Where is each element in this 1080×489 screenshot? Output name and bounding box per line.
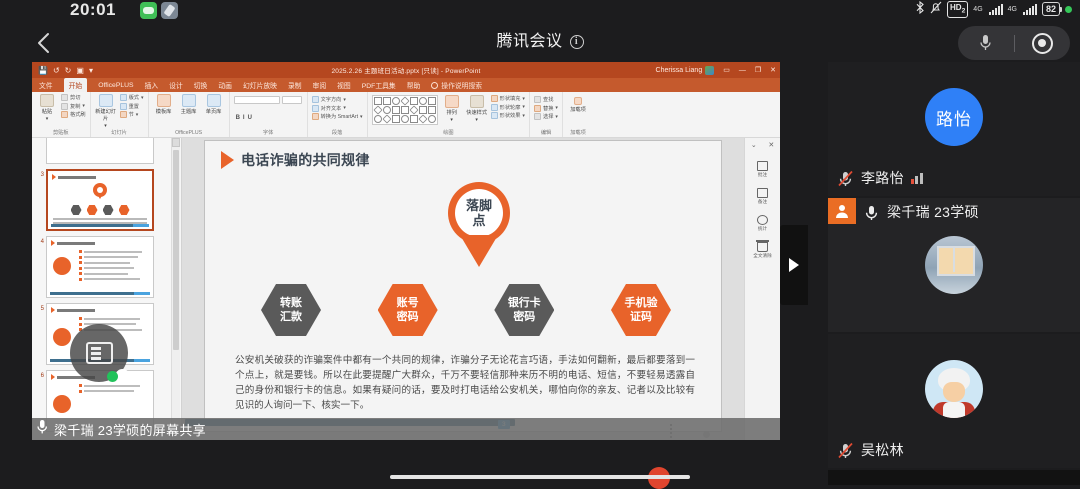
ribbon-tabs[interactable]: 文件 开始 OfficePLUS 插入 设计 切换 动画 幻灯片放映 录制 审阅… xyxy=(32,78,780,92)
tell-me-label: 操作说明搜索 xyxy=(441,80,482,90)
share-label-text: 梁千瑞 23学硕的屏幕共享 xyxy=(54,420,206,439)
font-family-box[interactable] xyxy=(234,96,280,104)
theme-library-icon xyxy=(182,94,196,107)
participant-name: 吴松林 xyxy=(861,440,904,460)
copy-icon xyxy=(61,103,68,110)
hexagon-line2: 汇款 xyxy=(280,310,302,324)
microphone-icon xyxy=(36,418,48,441)
hd-icon: HD2 xyxy=(947,1,968,18)
tab-home[interactable]: 开始 xyxy=(64,78,88,92)
align-text-icon xyxy=(312,105,319,112)
thumbnail-item[interactable]: 4 xyxy=(34,236,181,298)
ribbon-group-font: B I U 字体 xyxy=(230,92,308,137)
tab-slideshow[interactable]: 幻灯片放映 xyxy=(243,80,277,90)
screen-share-badge xyxy=(828,198,856,224)
side-panel-item-stats[interactable]: 统计 xyxy=(745,215,780,232)
layout-icon xyxy=(120,94,127,101)
microphone-muted-icon xyxy=(838,170,854,187)
ppt-side-panel[interactable]: ⌄ ✕ 批注 备注 统计 全文清除 xyxy=(744,138,780,440)
notes-icon xyxy=(757,188,768,198)
tab-pdf-tools[interactable]: PDF工具集 xyxy=(362,80,396,90)
wechat-icon xyxy=(140,2,157,19)
thumbnail-number: 3 xyxy=(34,169,44,231)
status-bar: 20:01 HD2 4G 4G 82 xyxy=(0,0,1080,22)
hexagon-line1: 转账 xyxy=(280,296,302,310)
addin-icon xyxy=(574,97,582,105)
tab-record[interactable]: 录制 xyxy=(288,80,302,90)
hexagon-line1: 账号 xyxy=(397,296,419,310)
new-slide-button[interactable]: 新建幻灯片 ▾ xyxy=(95,94,117,129)
ribbon-group-addins: 加载项 加载项 xyxy=(563,92,593,137)
section-icon xyxy=(120,111,127,118)
group-label-addins: 加载项 xyxy=(567,129,589,137)
scroll-up-button[interactable] xyxy=(172,138,180,147)
app-title-text: 腾讯会议 xyxy=(496,22,562,62)
avatar xyxy=(925,360,983,418)
avatar: 路怡 xyxy=(925,88,983,146)
hexagon-line1: 银行卡 xyxy=(508,296,541,310)
group-label-officeplus: OfficePLUS xyxy=(153,130,225,137)
ribbon-display-options-icon[interactable]: ▭ xyxy=(723,66,730,74)
record-icon xyxy=(1032,33,1053,54)
tab-design[interactable]: 设计 xyxy=(169,80,183,90)
shape-fill-button[interactable]: 形状填充▾ xyxy=(491,95,525,102)
signal-2-icon xyxy=(1023,4,1037,15)
paste-icon xyxy=(40,94,54,107)
bluetooth-icon xyxy=(915,1,925,17)
format-painter-icon xyxy=(61,111,68,118)
scrollbar-thumb[interactable] xyxy=(173,150,179,350)
tab-file[interactable]: 文件 xyxy=(39,80,53,90)
signal-1-icon xyxy=(989,4,1003,15)
participant-tile[interactable]: 路怡 李路怡 xyxy=(828,62,1080,198)
shape-effects-icon xyxy=(491,112,498,119)
hexagon-line2: 密码 xyxy=(513,310,535,324)
tab-view[interactable]: 视图 xyxy=(337,80,351,90)
group-label-drawing: 绘图 xyxy=(372,129,525,137)
ribbon-group-clipboard: 粘贴 ▾ 剪切 复制▾ 格式刷 剪贴板 xyxy=(32,92,91,137)
ribbon-group-drawing: 排列▾ 快速样式▾ 形状填充▾ 形状轮廓▾ 形状效果▾ 绘图 xyxy=(368,92,530,137)
play-arrow-icon xyxy=(789,258,799,272)
replace-icon xyxy=(534,105,541,112)
tab-help[interactable]: 帮助 xyxy=(407,80,421,90)
info-icon[interactable]: i xyxy=(570,35,584,49)
trash-icon xyxy=(757,242,768,252)
ribbon-group-editing: 查找 替换▾ 选择▾ 编辑 xyxy=(530,92,563,137)
slide-thumbnail-panel[interactable]: 2 如何识别防范电信诈骗？ 3 4 xyxy=(32,138,182,440)
shared-screen-area[interactable]: 💾 ↺ ↻ ▣ ▾ 2025.2.26 主题班日活动.pptx [只读] - P… xyxy=(32,62,780,440)
side-panel-item-comment[interactable]: 批注 xyxy=(745,161,780,178)
hexagon-line1: 手机验 xyxy=(624,296,657,310)
single-page-library-button[interactable]: 单页库 xyxy=(203,94,225,115)
paste-button[interactable]: 粘贴 ▾ xyxy=(36,94,58,122)
battery-indicator: 82 xyxy=(1042,2,1060,16)
arrange-button[interactable]: 排列▾ xyxy=(441,95,463,123)
screen-share-floating-control[interactable] xyxy=(70,324,128,382)
template-library-icon xyxy=(157,94,171,107)
signal-1-label: 4G xyxy=(973,6,982,13)
italic-button[interactable]: I xyxy=(243,115,245,121)
select-icon xyxy=(534,113,541,120)
tab-officeplus[interactable]: OfficePLUS xyxy=(98,82,133,89)
ribbon-group-slides: 新建幻灯片 ▾ 版式▾ 重置 节▾ 幻灯片 xyxy=(91,92,149,137)
recording-dot-icon xyxy=(1065,6,1072,13)
thumbnail-preview[interactable] xyxy=(46,236,154,298)
slide-title-text: 电话诈骗的共同规律 xyxy=(241,150,370,170)
shape-effects-button[interactable]: 形状效果▾ xyxy=(491,112,525,119)
tab-animations[interactable]: 动画 xyxy=(218,80,232,90)
new-slide-icon xyxy=(99,94,113,107)
quick-styles-icon xyxy=(470,95,484,108)
align-text-button[interactable]: 对齐文本▾ xyxy=(312,105,363,112)
participant-tile[interactable]: 梁千瑞 23学硕 xyxy=(828,198,1080,334)
shape-gallery[interactable] xyxy=(372,95,438,125)
font-size-box[interactable] xyxy=(282,96,302,104)
status-indicators: HD2 4G 4G 82 xyxy=(915,1,1072,18)
tab-review[interactable]: 审阅 xyxy=(313,80,327,90)
search-icon xyxy=(534,96,541,103)
layout-button[interactable]: 版式▾ xyxy=(120,94,144,101)
ribbon-group-paragraph: 文字方向▾ 对齐文本▾ 转换为 SmartArt▾ 段落 xyxy=(308,92,368,137)
arrow-bullet-icon xyxy=(221,151,234,169)
tab-transitions[interactable]: 切换 xyxy=(194,80,208,90)
participant-list: 路怡 李路怡 梁千瑞 23学硕 吴松林 xyxy=(828,62,1080,485)
cut-icon xyxy=(61,94,68,101)
powerpoint-window: 💾 ↺ ↻ ▣ ▾ 2025.2.26 主题班日活动.pptx [只读] - P… xyxy=(32,62,780,440)
status-time: 20:01 xyxy=(70,0,116,20)
select-button[interactable]: 选择▾ xyxy=(534,113,558,120)
thumbnail-item[interactable]: 2 如何识别防范电信诈骗？ xyxy=(34,138,181,164)
floating-control-pill[interactable] xyxy=(958,26,1070,60)
mic-button[interactable] xyxy=(958,33,1014,53)
hexagon-item[interactable]: 银行卡 密码 xyxy=(494,284,554,336)
shape-outline-icon xyxy=(491,104,498,111)
screen-share-icon xyxy=(86,342,113,364)
ppt-window-controls[interactable]: Cherissa Liang ▭ — ❐ ✕ xyxy=(656,66,776,75)
copy-dropdown-icon[interactable]: ▾ xyxy=(82,103,85,109)
ringer-off-icon xyxy=(930,1,942,17)
tool-icon xyxy=(161,2,178,19)
avatar-initials: 路怡 xyxy=(936,105,972,130)
ribbon-group-officeplus: 模板库 主题库 单页库 OfficePLUS xyxy=(149,92,230,137)
group-label-paragraph: 段落 xyxy=(312,129,363,137)
thumbnail-preview-selected[interactable] xyxy=(46,169,154,231)
format-painter-button[interactable]: 格式刷 xyxy=(61,111,86,118)
shape-fill-icon xyxy=(491,95,498,102)
hexagon-line2: 密码 xyxy=(397,310,419,324)
smartart-icon xyxy=(312,113,319,120)
lightbulb-icon xyxy=(431,82,438,89)
thumbnail-item[interactable]: 3 xyxy=(34,169,181,231)
thumbnail-number: 2 xyxy=(34,138,44,164)
tab-insert[interactable]: 插入 xyxy=(145,80,159,90)
microphone-icon xyxy=(864,204,880,221)
paste-dropdown-icon[interactable]: ▾ xyxy=(46,116,49,122)
thumbnail-scrollbar[interactable] xyxy=(171,138,180,440)
text-direction-button[interactable]: 文字方向▾ xyxy=(312,96,363,103)
thumbnail-number: 5 xyxy=(34,303,44,365)
ppt-user-name: Cherissa Liang xyxy=(656,67,703,74)
ppt-user[interactable]: Cherissa Liang xyxy=(656,66,715,75)
close-button[interactable]: ✕ xyxy=(770,66,776,74)
single-page-library-icon xyxy=(207,94,221,107)
minimize-button[interactable]: — xyxy=(739,67,746,74)
avatar xyxy=(925,236,983,294)
bold-button[interactable]: B xyxy=(236,115,240,121)
thumbnail-number: 4 xyxy=(34,236,44,298)
participant-name: 李路怡 xyxy=(861,168,904,188)
share-label-bar: 梁千瑞 23学硕的屏幕共享 xyxy=(32,418,780,440)
avatar xyxy=(705,66,714,75)
find-button[interactable]: 查找 xyxy=(534,96,558,103)
theme-library-button[interactable]: 主题库 xyxy=(178,94,200,115)
tell-me-search[interactable]: 操作说明搜索 xyxy=(431,80,482,90)
smartart-button[interactable]: 转换为 SmartArt▾ xyxy=(312,113,363,120)
reset-icon xyxy=(120,103,127,110)
app-header: 腾讯会议 i xyxy=(0,22,1080,62)
chevron-down-icon[interactable]: ⌄ xyxy=(751,141,757,149)
group-label-font: 字体 xyxy=(234,129,303,137)
replace-button[interactable]: 替换▾ xyxy=(534,105,558,112)
group-label-clipboard: 剪贴板 xyxy=(36,129,86,137)
pin-text-line2: 点 xyxy=(472,213,485,228)
hexagon-item[interactable]: 账号 密码 xyxy=(378,284,438,336)
close-icon[interactable]: ✕ xyxy=(768,141,774,149)
signal-2-label: 4G xyxy=(1008,6,1017,13)
hexagon-item[interactable]: 手机验 证码 xyxy=(611,284,671,336)
maximize-button[interactable]: ❐ xyxy=(755,66,761,74)
pin-text-line1: 落脚 xyxy=(466,198,492,213)
comment-icon xyxy=(757,161,768,171)
status-app-icons xyxy=(140,2,178,19)
page-title: 腾讯会议 i xyxy=(0,22,1080,62)
pin-tail-shape xyxy=(460,235,498,267)
expand-panel-button[interactable] xyxy=(780,225,808,305)
slide-title[interactable]: 电话诈骗的共同规律 xyxy=(205,141,721,170)
record-button[interactable] xyxy=(1015,33,1071,54)
section-button[interactable]: 节▾ xyxy=(120,111,144,118)
thumbnail-preview[interactable]: 如何识别防范电信诈骗？ xyxy=(46,138,154,164)
hexagon-line2: 证码 xyxy=(630,310,652,324)
quick-styles-button[interactable]: 快速样式▾ xyxy=(466,95,488,123)
addin-button[interactable]: 加载项 xyxy=(567,97,589,113)
group-label-editing: 编辑 xyxy=(534,129,558,137)
ppt-body: 2 如何识别防范电信诈骗？ 3 4 xyxy=(32,138,780,440)
underline-button[interactable]: U xyxy=(248,115,252,121)
side-panel-item-clear[interactable]: 全文清除 xyxy=(745,242,780,259)
participant-tile[interactable]: 吴松林 xyxy=(828,334,1080,470)
slide-body-text[interactable]: 公安机关破获的诈骗案件中都有一个共同的规律，诈骗分子无论花言巧语，手法如何翻新，… xyxy=(235,353,695,413)
hexagon-item[interactable]: 转账 汇款 xyxy=(261,284,321,336)
current-slide[interactable]: 电话诈骗的共同规律 落脚 点 转账 汇款 xyxy=(205,141,721,431)
signal-weak-icon xyxy=(911,173,923,184)
slide-canvas-area[interactable]: 电话诈骗的共同规律 落脚 点 转账 汇款 xyxy=(182,138,744,440)
shape-outline-button[interactable]: 形状轮廓▾ xyxy=(491,104,525,111)
hexagon-row: 转账 汇款 账号 密码 银行卡 密码 手机验 证 xyxy=(261,284,671,336)
home-indicator[interactable] xyxy=(390,475,690,479)
group-label-slides: 幻灯片 xyxy=(95,129,144,137)
ppt-title-bar: 💾 ↺ ↻ ▣ ▾ 2025.2.26 主题班日活动.pptx [只读] - P… xyxy=(32,62,780,78)
participant-name: 梁千瑞 23学硕 xyxy=(887,202,979,222)
ribbon[interactable]: 粘贴 ▾ 剪切 复制▾ 格式刷 剪贴板 新建幻灯片 ▾ xyxy=(32,92,780,138)
template-library-button[interactable]: 模板库 xyxy=(153,94,175,115)
cut-button[interactable]: 剪切 xyxy=(61,94,86,101)
arrange-icon xyxy=(445,95,459,108)
microphone-muted-icon xyxy=(838,442,854,459)
share-status-dot-icon xyxy=(115,369,130,384)
copy-button[interactable]: 复制▾ xyxy=(61,103,86,110)
side-panel-item-notes[interactable]: 备注 xyxy=(745,188,780,205)
text-direction-icon xyxy=(312,96,319,103)
reset-button[interactable]: 重置 xyxy=(120,103,144,110)
stats-icon xyxy=(757,215,768,225)
